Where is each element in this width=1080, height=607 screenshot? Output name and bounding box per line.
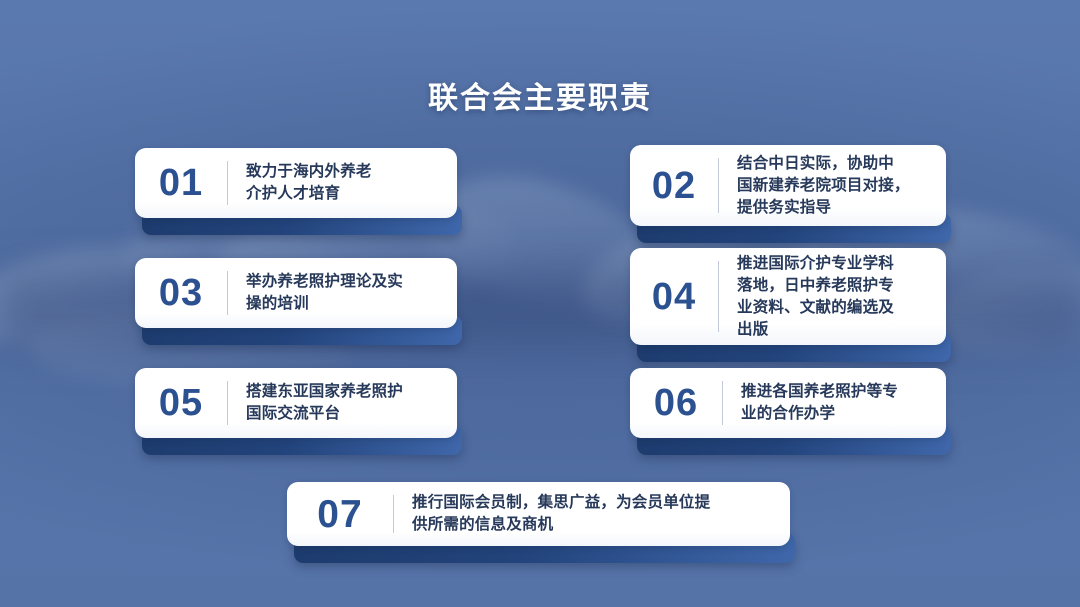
card-description: 推进国际介护专业学科 落地，日中养老照护专 业资料、文献的编选及 出版 <box>719 253 946 341</box>
card-number: 05 <box>135 384 227 422</box>
responsibility-card-01: 01 致力于海内外养老 介护人才培育 <box>135 148 457 218</box>
card-description: 推行国际会员制，集思广益，为会员单位提 供所需的信息及商机 <box>394 492 790 536</box>
slide-title: 联合会主要职责 <box>0 73 1080 117</box>
card-number: 06 <box>630 384 722 422</box>
card-number: 04 <box>630 278 718 316</box>
responsibility-card-02: 02 结合中日实际，协助中 国新建养老院项目对接， 提供务实指导 <box>630 145 946 226</box>
slide-canvas: 联合会主要职责 01 致力于海内外养老 介护人才培育 02 结合中日实际，协助中… <box>0 0 1080 607</box>
card-description: 举办养老照护理论及实 操的培训 <box>228 271 457 315</box>
responsibility-card-05: 05 搭建东亚国家养老照护 国际交流平台 <box>135 368 457 438</box>
card-panel: 02 结合中日实际，协助中 国新建养老院项目对接， 提供务实指导 <box>630 145 946 226</box>
card-description: 搭建东亚国家养老照护 国际交流平台 <box>228 381 457 425</box>
responsibility-card-06: 06 推进各国养老照护等专 业的合作办学 <box>630 368 946 438</box>
responsibility-card-04: 04 推进国际介护专业学科 落地，日中养老照护专 业资料、文献的编选及 出版 <box>630 248 946 345</box>
card-panel: 01 致力于海内外养老 介护人才培育 <box>135 148 457 218</box>
card-panel: 07 推行国际会员制，集思广益，为会员单位提 供所需的信息及商机 <box>287 482 790 546</box>
card-number: 01 <box>135 164 227 202</box>
card-panel: 04 推进国际介护专业学科 落地，日中养老照护专 业资料、文献的编选及 出版 <box>630 248 946 345</box>
responsibility-card-03: 03 举办养老照护理论及实 操的培训 <box>135 258 457 328</box>
card-number: 03 <box>135 274 227 312</box>
card-description: 致力于海内外养老 介护人才培育 <box>228 161 457 205</box>
card-panel: 03 举办养老照护理论及实 操的培训 <box>135 258 457 328</box>
card-number: 07 <box>287 495 393 534</box>
card-panel: 06 推进各国养老照护等专 业的合作办学 <box>630 368 946 438</box>
responsibility-card-07: 07 推行国际会员制，集思广益，为会员单位提 供所需的信息及商机 <box>287 482 790 546</box>
card-description: 推进各国养老照护等专 业的合作办学 <box>723 381 946 425</box>
card-number: 02 <box>630 167 718 205</box>
card-description: 结合中日实际，协助中 国新建养老院项目对接， 提供务实指导 <box>719 153 946 219</box>
card-panel: 05 搭建东亚国家养老照护 国际交流平台 <box>135 368 457 438</box>
